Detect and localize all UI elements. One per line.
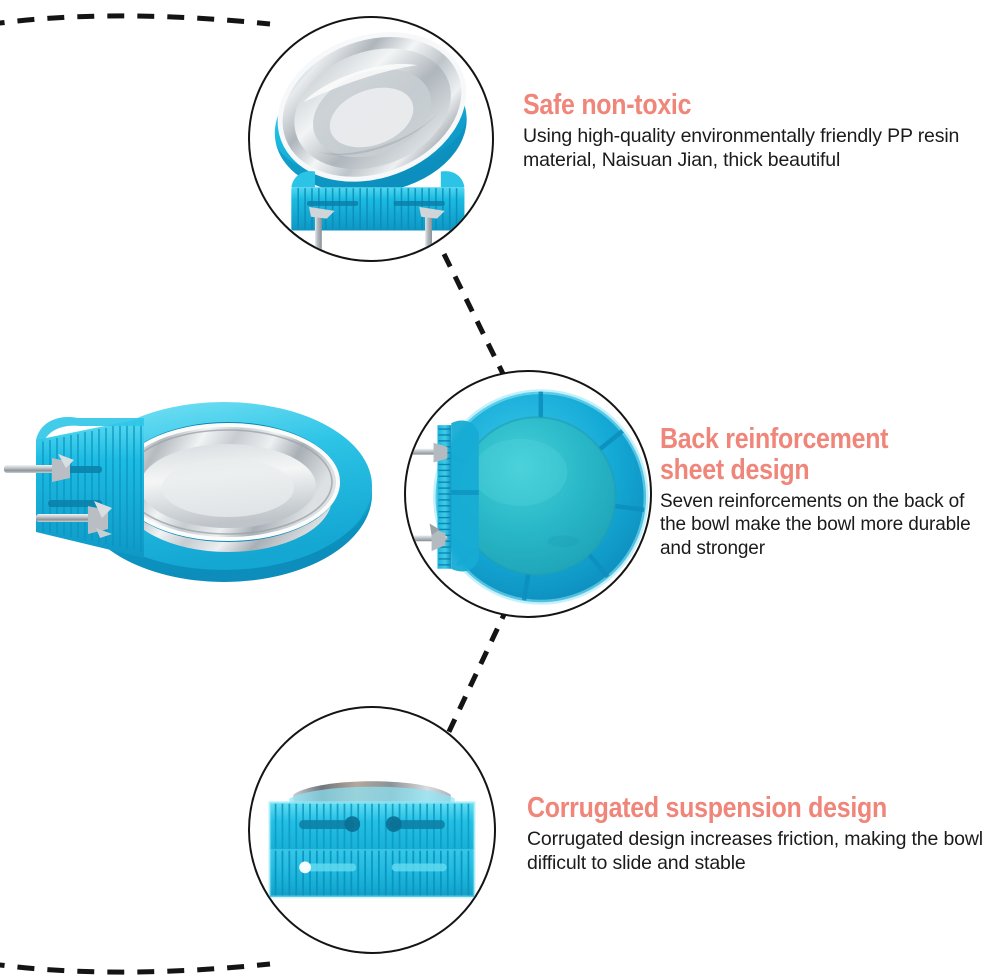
feature-body: Using high-quality environmentally frien… — [523, 124, 983, 172]
callout-circle-corrugated-suspension — [248, 706, 496, 954]
feature-text-corrugated-suspension: Corrugated suspension design Corrugated … — [527, 793, 987, 876]
callout-circle-back-reinforcement — [404, 370, 652, 618]
hero-product-bowl-with-mount — [0, 382, 394, 600]
feature-headline: Back reinforcement sheet design — [660, 424, 941, 487]
art-corrugated-bracket-front — [250, 708, 494, 952]
callout-circle-safe-non-toxic — [248, 16, 494, 262]
feature-headline: Safe non-toxic — [523, 90, 919, 121]
callout2-bracket — [437, 420, 478, 571]
infographic-canvas: Safe non-toxic Using high-quality enviro… — [0, 0, 987, 979]
art-bowl-back-reinforcement-ribs — [406, 372, 650, 616]
feature-text-back-reinforcement: Back reinforcement sheet design Seven re… — [660, 424, 987, 560]
callout2-screw-upper — [408, 443, 447, 463]
art-bowl-in-holder-tilted — [250, 18, 492, 260]
feature-text-safe-non-toxic: Safe non-toxic Using high-quality enviro… — [523, 90, 983, 173]
hero-bracket — [36, 417, 144, 558]
feature-headline: Corrugated suspension design — [527, 793, 923, 824]
feature-body: Corrugated design increases friction, ma… — [527, 827, 987, 875]
feature-body: Seven reinforcements on the back of the … — [660, 490, 987, 561]
